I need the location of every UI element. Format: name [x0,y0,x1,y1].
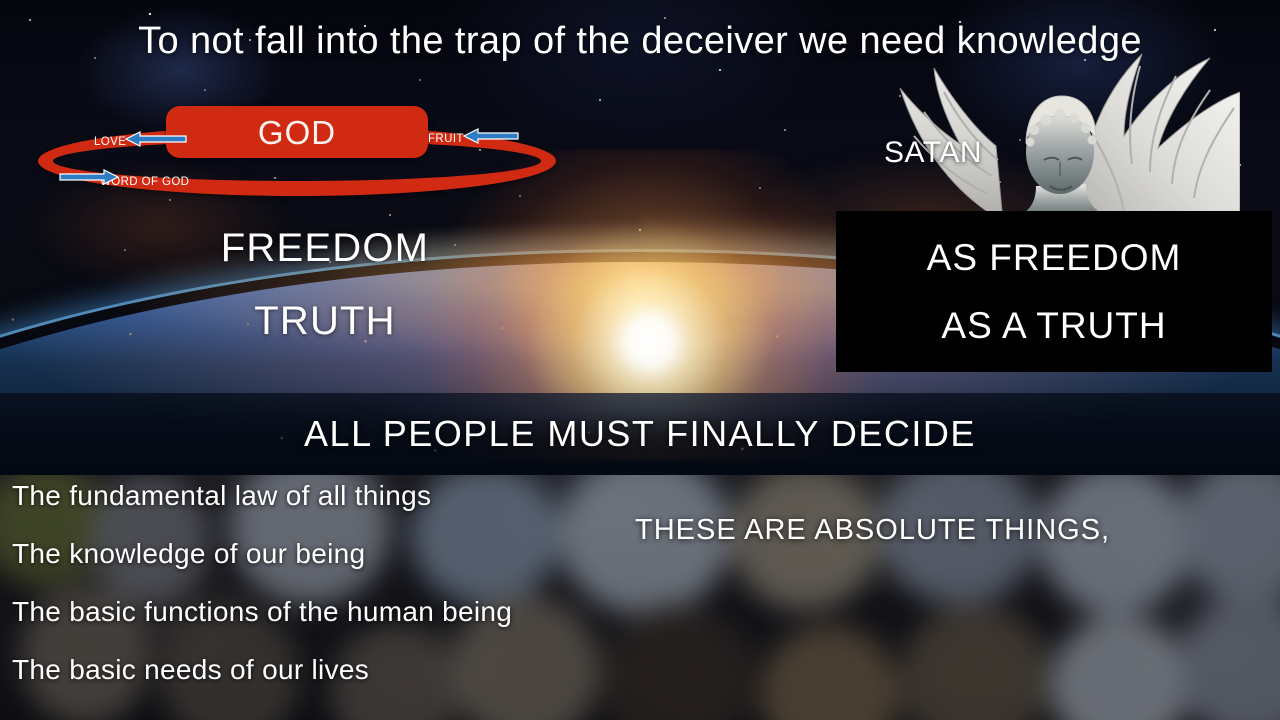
as-freedom-as-a-truth-box: AS FREEDOM AS A TRUTH [836,211,1272,372]
arrow-left-icon [124,130,188,148]
list-item: The fundamental law of all things [12,482,632,510]
freedom-text: FREEDOM [150,228,500,268]
arrow-left-icon [462,127,520,145]
list-item: The knowledge of our being [12,540,632,568]
decide-banner: ALL PEOPLE MUST FINALLY DECIDE [0,393,1280,475]
truth-text: TRUTH [150,301,500,341]
god-box: GOD [166,106,428,158]
diagram-label-fruit: FRUIT [428,133,464,145]
slide-canvas: To not fall into the trap of the deceive… [0,0,1280,720]
arrow-right-icon [58,168,120,186]
as-freedom-text: AS FREEDOM [927,239,1182,276]
absolute-things-statement: THESE ARE ABSOLUTE THINGS, [635,516,1110,545]
list-item: The basic functions of the human being [12,598,632,626]
as-a-truth-text: AS A TRUTH [941,307,1166,344]
list-item: The basic needs of our lives [12,656,632,684]
winged-angel-statue-image [884,36,1240,218]
god-box-label: GOD [258,116,336,149]
diagram-label-love: LOVE [94,136,126,148]
satan-label: SATAN [884,136,982,170]
freedom-truth-stack: FREEDOM TRUTH [150,228,500,341]
absolute-things-list: The fundamental law of all things The kn… [12,482,632,714]
banner-text: ALL PEOPLE MUST FINALLY DECIDE [304,416,976,452]
god-cycle-diagram: GOD LOVE FRUIT WORD OF GOD [38,106,558,200]
